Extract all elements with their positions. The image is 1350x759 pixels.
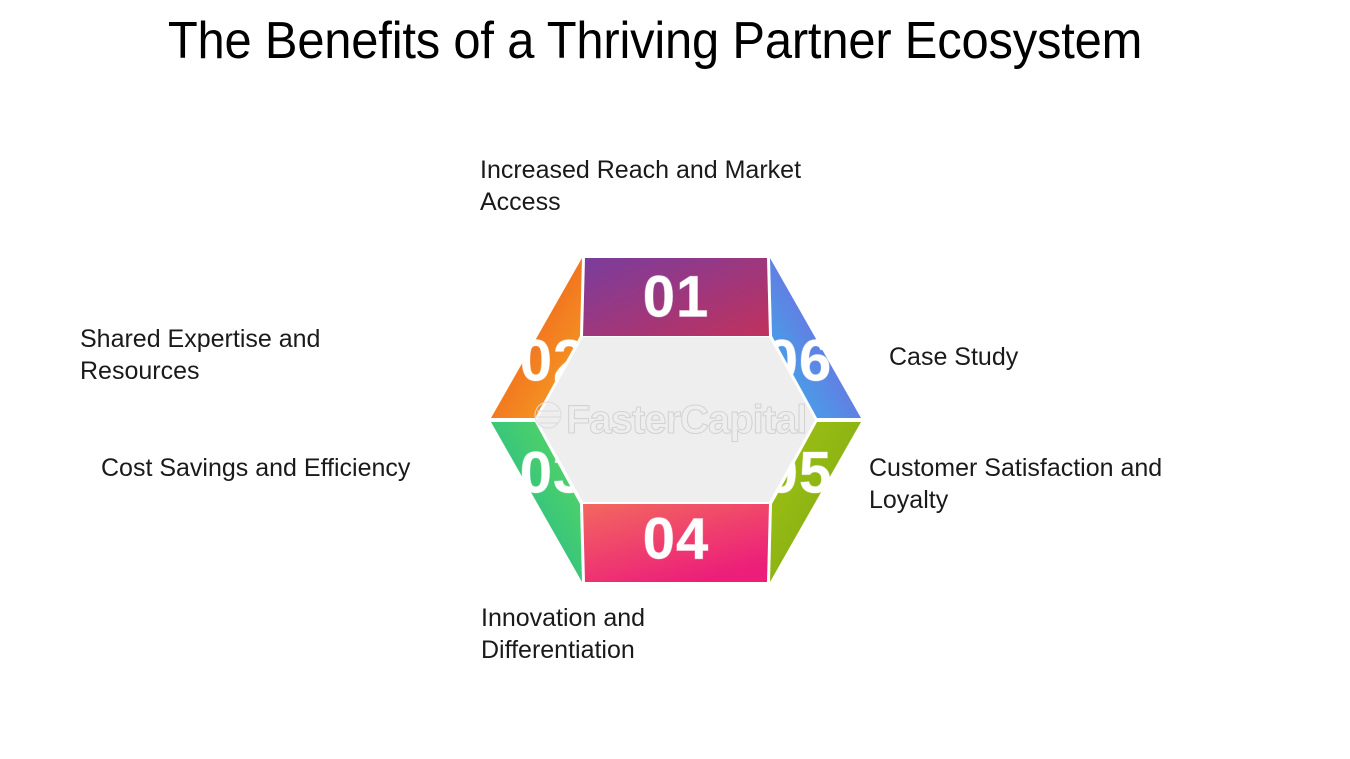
hex-label-04: Innovation and Differentiation xyxy=(481,602,781,666)
hexagon-wheel-diagram: 01 02 03 04 05 06 xyxy=(490,255,862,585)
hex-label-01: Increased Reach and Market Access xyxy=(480,154,880,218)
hex-label-05: Customer Satisfaction and Loyalty xyxy=(869,452,1229,516)
watermark-text: FasterCapital xyxy=(566,398,806,442)
hex-segment-04-number: 04 xyxy=(643,506,710,571)
hex-label-03: Cost Savings and Efficiency xyxy=(101,452,481,484)
page-title: The Benefits of a Thriving Partner Ecosy… xyxy=(39,8,1270,74)
hex-label-06: Case Study xyxy=(889,341,1189,373)
hex-label-02: Shared Expertise and Resources xyxy=(80,323,410,387)
watermark: FasterCapital xyxy=(535,398,806,442)
hex-segment-04[interactable]: 04 xyxy=(583,504,769,582)
hex-segment-01-number: 01 xyxy=(643,264,710,329)
